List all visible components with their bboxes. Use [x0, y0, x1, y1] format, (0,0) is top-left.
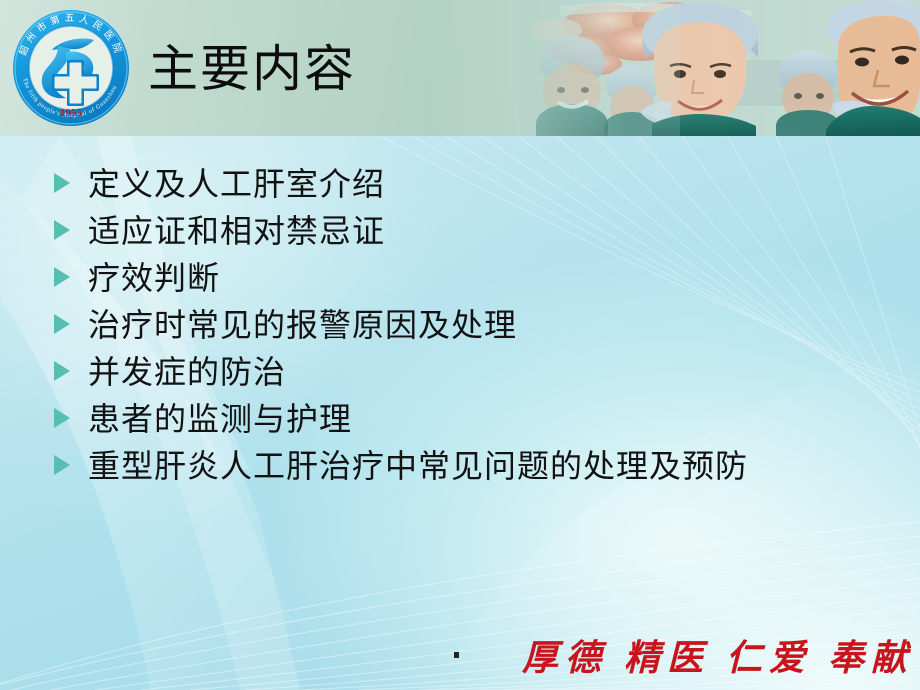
logo-year-text: 1955 — [60, 107, 83, 119]
list-item-label: 疗效判断 — [88, 262, 220, 294]
triangle-bullet-icon — [54, 455, 70, 475]
list-item-label: 并发症的防治 — [88, 356, 286, 388]
hospital-motto-calligraphy: 厚德 精医 仁爱 奉献 — [522, 628, 914, 684]
content-bullet-list: 定义及人工肝室介绍 适应证和相对禁忌证 疗效判断 治疗时常见的报警原因及处理 并… — [0, 160, 920, 489]
list-item-label: 患者的监测与护理 — [88, 403, 352, 435]
list-item-label: 定义及人工肝室介绍 — [88, 168, 385, 200]
list-item-label: 适应证和相对禁忌证 — [88, 215, 385, 247]
slide-header-band: 主要内容 — [0, 0, 920, 136]
list-item-label: 治疗时常见的报警原因及处理 — [88, 309, 517, 341]
list-item[interactable]: 治疗时常见的报警原因及处理 — [0, 301, 920, 348]
list-item[interactable]: 并发症的防治 — [0, 348, 920, 395]
list-item[interactable]: 疗效判断 — [0, 254, 920, 301]
list-item[interactable]: 重型肝炎人工肝治疗中常见问题的处理及预防 — [0, 442, 920, 489]
triangle-bullet-icon — [54, 173, 70, 193]
triangle-bullet-icon — [54, 361, 70, 381]
motto-text: 厚德 精医 仁爱 奉献 — [522, 638, 914, 678]
slide-canvas: 主要内容 韶州市第五人民医院 The fifth — [0, 0, 920, 690]
page-marker-dot — [454, 652, 459, 658]
header-photo-surgical-team — [0, 0, 920, 136]
triangle-bullet-icon — [54, 267, 70, 287]
hospital-logo-icon: 韶州市第五人民医院 The fifth people's Hospital of… — [8, 4, 134, 132]
list-item[interactable]: 患者的监测与护理 — [0, 395, 920, 442]
list-item[interactable]: 定义及人工肝室介绍 — [0, 160, 920, 207]
list-item[interactable]: 适应证和相对禁忌证 — [0, 207, 920, 254]
list-item-label: 重型肝炎人工肝治疗中常见问题的处理及预防 — [88, 450, 748, 482]
triangle-bullet-icon — [54, 220, 70, 240]
triangle-bullet-icon — [54, 314, 70, 334]
page-title: 主要内容 — [148, 44, 356, 94]
triangle-bullet-icon — [54, 408, 70, 428]
